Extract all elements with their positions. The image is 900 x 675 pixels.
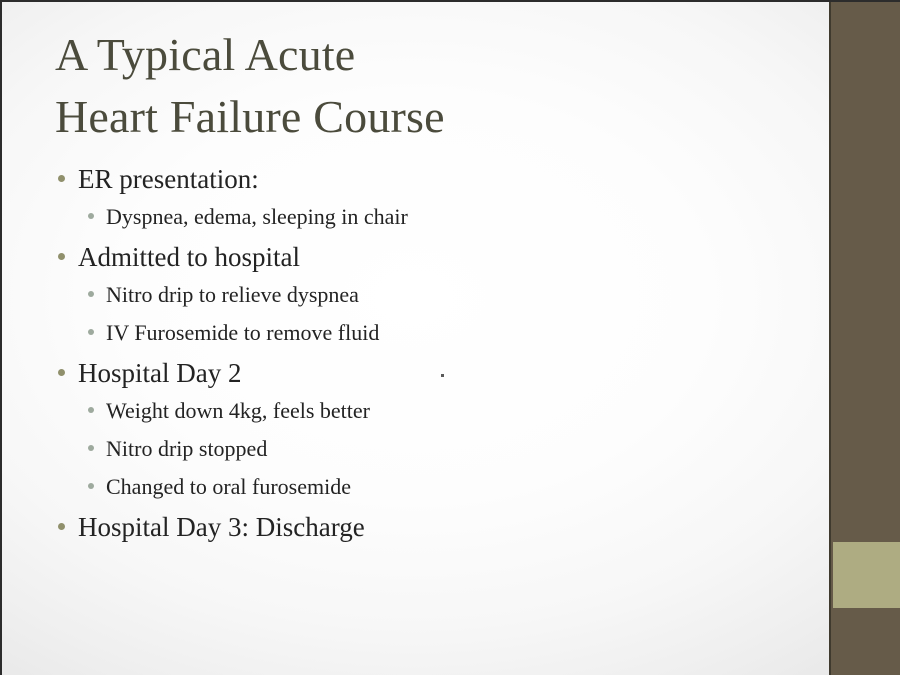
bullet-text: Weight down 4kg, feels better: [106, 396, 370, 426]
presentation-slide: A Typical Acute Heart Failure Course ER …: [0, 0, 900, 675]
slide-body-bullet-list: ER presentation: Dyspnea, edema, sleepin…: [58, 162, 798, 550]
bullet-text: ER presentation:: [78, 162, 259, 196]
slide-title-line-2: Heart Failure Course: [55, 86, 755, 148]
bullet-marker-icon: [58, 253, 65, 260]
slide-title: A Typical Acute Heart Failure Course: [55, 24, 755, 148]
bullet-marker-icon: [88, 329, 94, 335]
bullet-text: Admitted to hospital: [78, 240, 300, 274]
bullet-text: Nitro drip stopped: [106, 434, 267, 464]
slide-title-line-1: A Typical Acute: [55, 24, 755, 86]
bullet-item: Admitted to hospital: [58, 240, 798, 280]
stray-speck-artifact: [441, 374, 444, 377]
bullet-marker-icon: [58, 175, 65, 182]
slide-top-border: [0, 0, 900, 2]
bullet-text: Hospital Day 3: Discharge: [78, 510, 365, 544]
bullet-marker-icon: [88, 213, 94, 219]
bullet-text: Dyspnea, edema, sleeping in chair: [106, 202, 408, 232]
decorative-sidebar-accent-block: [833, 542, 900, 608]
bullet-marker-icon: [58, 369, 65, 376]
bullet-marker-icon: [58, 523, 65, 530]
bullet-item: Nitro drip to relieve dyspnea: [88, 280, 798, 318]
bullet-marker-icon: [88, 291, 94, 297]
bullet-item: Nitro drip stopped: [88, 434, 798, 472]
bullet-item: IV Furosemide to remove fluid: [88, 318, 798, 356]
bullet-item: Hospital Day 3: Discharge: [58, 510, 798, 550]
bullet-item: Changed to oral furosemide: [88, 472, 798, 510]
bullet-text: Nitro drip to relieve dyspnea: [106, 280, 359, 310]
sidebar-edge-line: [829, 0, 831, 675]
bullet-text: Changed to oral furosemide: [106, 472, 351, 502]
bullet-item: Weight down 4kg, feels better: [88, 396, 798, 434]
bullet-item: Dyspnea, edema, sleeping in chair: [88, 202, 798, 240]
bullet-item: ER presentation:: [58, 162, 798, 202]
bullet-marker-icon: [88, 483, 94, 489]
bullet-text: Hospital Day 2: [78, 356, 241, 390]
bullet-item: Hospital Day 2: [58, 356, 798, 396]
bullet-text: IV Furosemide to remove fluid: [106, 318, 379, 348]
bullet-marker-icon: [88, 445, 94, 451]
slide-left-border: [0, 0, 2, 675]
bullet-marker-icon: [88, 407, 94, 413]
